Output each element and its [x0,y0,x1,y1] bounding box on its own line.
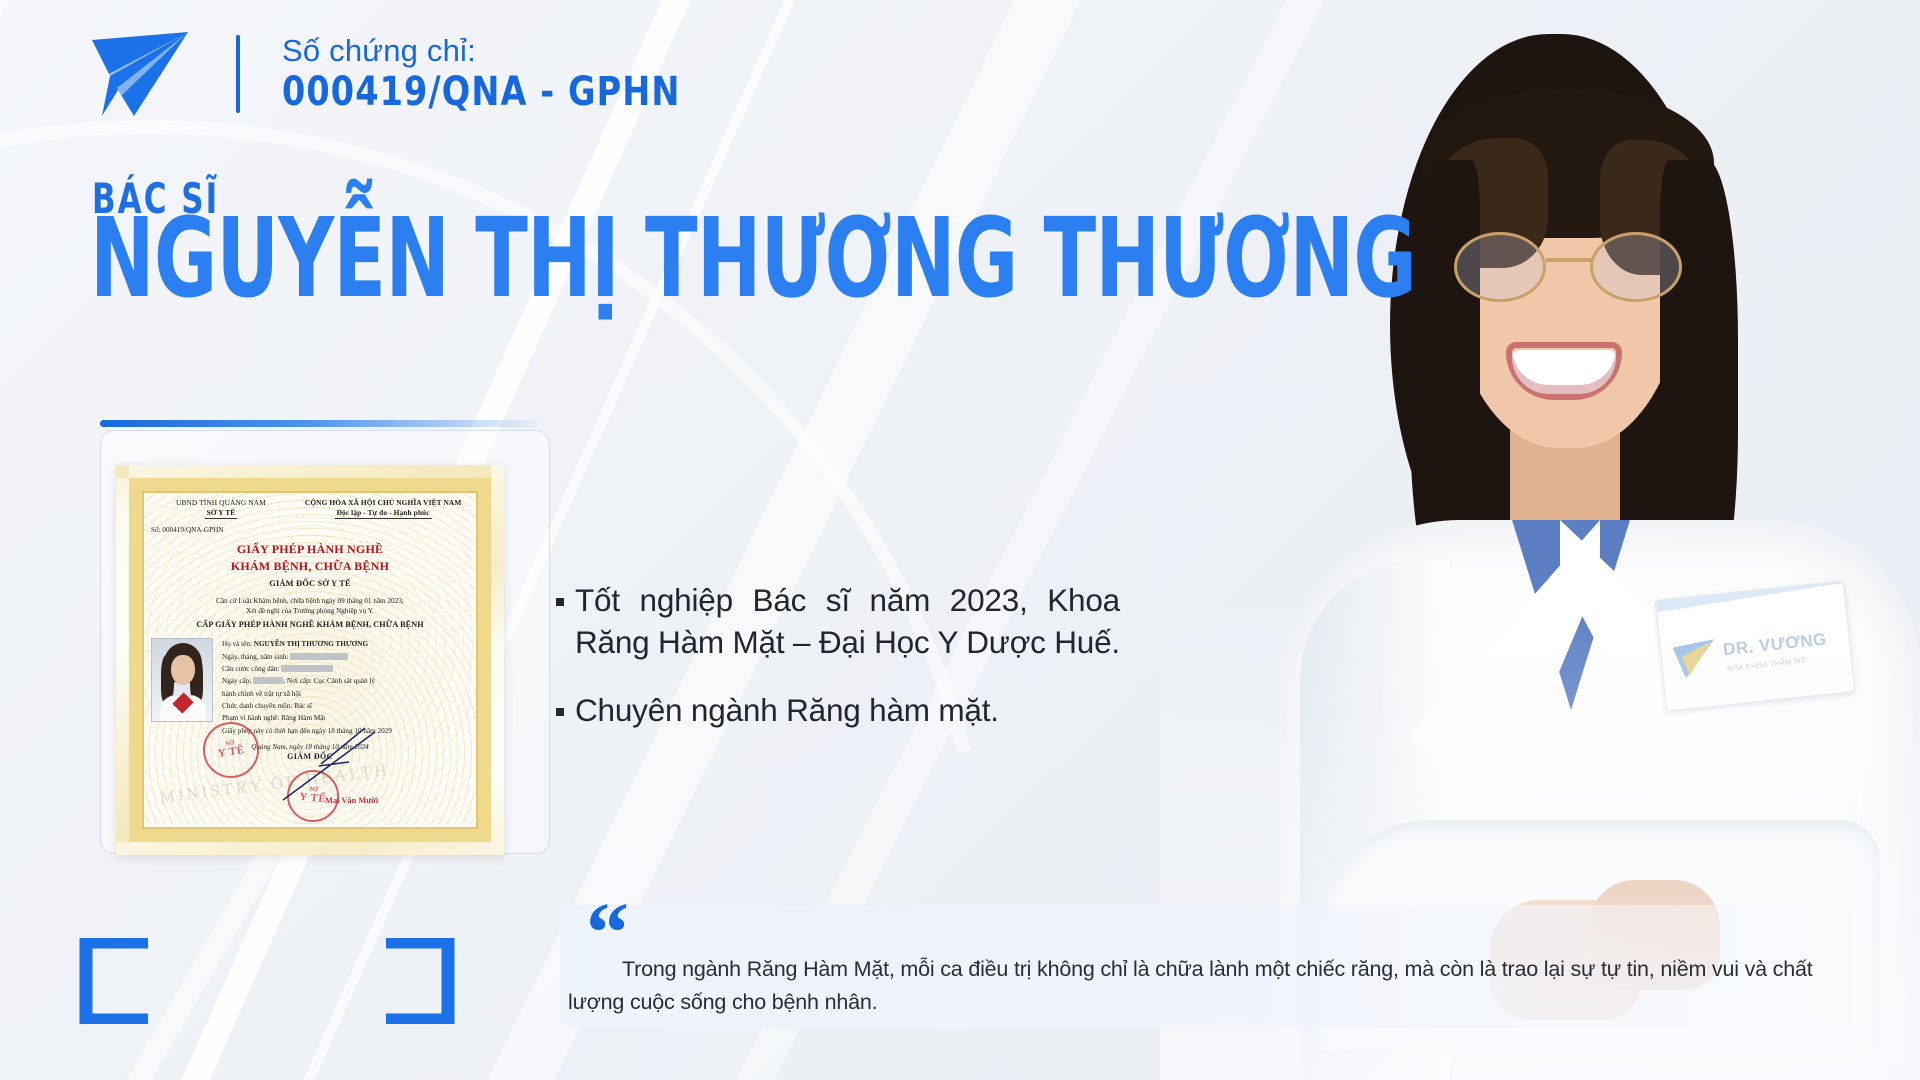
cert-dob-label: Ngày, tháng, năm sinh: [222,653,288,661]
bullet-1-line-1: Tốt nghiệp Bác sĩ năm 2023, Khoa [575,580,1120,622]
corner-bracket-left [70,938,150,1024]
bullet-2-line-1: Chuyên ngành Răng hàm mặt. [575,690,999,732]
cert-scope: Phạm vi hành nghề: Răng Hàm Mặt [222,712,469,724]
cert-number: Số: 000419/QNA-GPHN [151,526,469,534]
credentials-list: Tốt nghiệp Bác sĩ năm 2023, Khoa Răng Hà… [556,580,1156,758]
cert-title-line2: KHÁM BỆNH, CHỮA BỆNH [151,558,469,574]
cert-basis-line1: Căn cứ Luật Khám bệnh, chữa bệnh ngày 09… [151,596,469,607]
certificate-number-block: Số chứng chỉ: 000419/QNA - GPHN [282,33,710,114]
cert-name-label: Họ và tên: [222,640,252,648]
corner-bracket-right [384,938,464,1024]
cert-issue-label: Ngày cấp: [222,677,251,685]
cert-basis-line2: Xét đề nghị của Trưởng phòng Nghiệp vụ Y… [151,606,469,617]
bullet-1-line-2: Răng Hàm Mặt – Đại Học Y Dược Huế. [575,622,1120,664]
bullet-marker-icon [556,708,564,716]
cert-name-value: NGUYỄN THỊ THƯƠNG THƯƠNG [254,640,368,648]
cert-id-label: Căn cước công dân: [222,665,279,673]
header-divider [236,35,240,113]
quote-text: Trong ngành Răng Hàm Mặt, mỗi ca điều tr… [568,953,1832,1020]
cert-authority: GIÁM ĐỐC SỞ Y TẾ [151,579,469,588]
list-item: Tốt nghiệp Bác sĩ năm 2023, Khoa Răng Hà… [556,580,1156,664]
certificate-number: 000419/QNA - GPHN [282,70,680,115]
signature-stroke-icon [279,726,399,806]
cert-title-line1: GIẤY PHÉP HÀNH NGHỀ [151,541,469,557]
cert-nation-line1: CỘNG HÒA XÃ HỘI CHỦ NGHĨA VIỆT NAM [297,498,469,508]
cert-nation-line2: Độc lập - Tự do - Hạnh phúc [335,508,432,519]
cert-position: Chức danh chuyên môn: Bác sĩ [222,700,469,712]
certificate-label: Số chứng chỉ: [282,33,710,70]
quote-panel: “ Trong ngành Răng Hàm Mặt, mỗi ca điều … [560,905,1850,1028]
cert-issuer-line2: SỞ Y TẾ [205,508,238,519]
certificate-signature-name: Mai Văn Mười [325,796,378,805]
cert-grant-line: CẤP GIẤY PHÉP HÀNH NGHỀ KHÁM BỆNH, CHỮA … [151,620,469,629]
cert-issue-place-cont: hành chính về trật tự xã hội [222,688,469,700]
banner-stage: NGUYỄN THỊ THƯƠNG THƯƠNG DR. VƯƠNG NHA K… [0,0,1920,1080]
header: Số chứng chỉ: 000419/QNA - GPHN [88,28,710,120]
certificate-document[interactable]: MINISTRY OF HEALTH UBND TỈNH QUẢNG NAM S… [116,465,504,855]
doctor-name-title: NGUYỄN THỊ THƯƠNG THƯƠNG [90,198,1416,319]
cert-issuer-line1: UBND TỈNH QUẢNG NAM [151,498,291,508]
certificate-portrait-photo [151,638,213,722]
certificate-accent-bar [100,420,540,427]
paper-plane-logo-icon [88,28,194,120]
bullet-marker-icon [556,598,564,606]
cert-issue-place: ; Nơi cấp: Cục Cảnh sát quản lý [283,677,375,685]
list-item: Chuyên ngành Răng hàm mặt. [556,690,1156,732]
